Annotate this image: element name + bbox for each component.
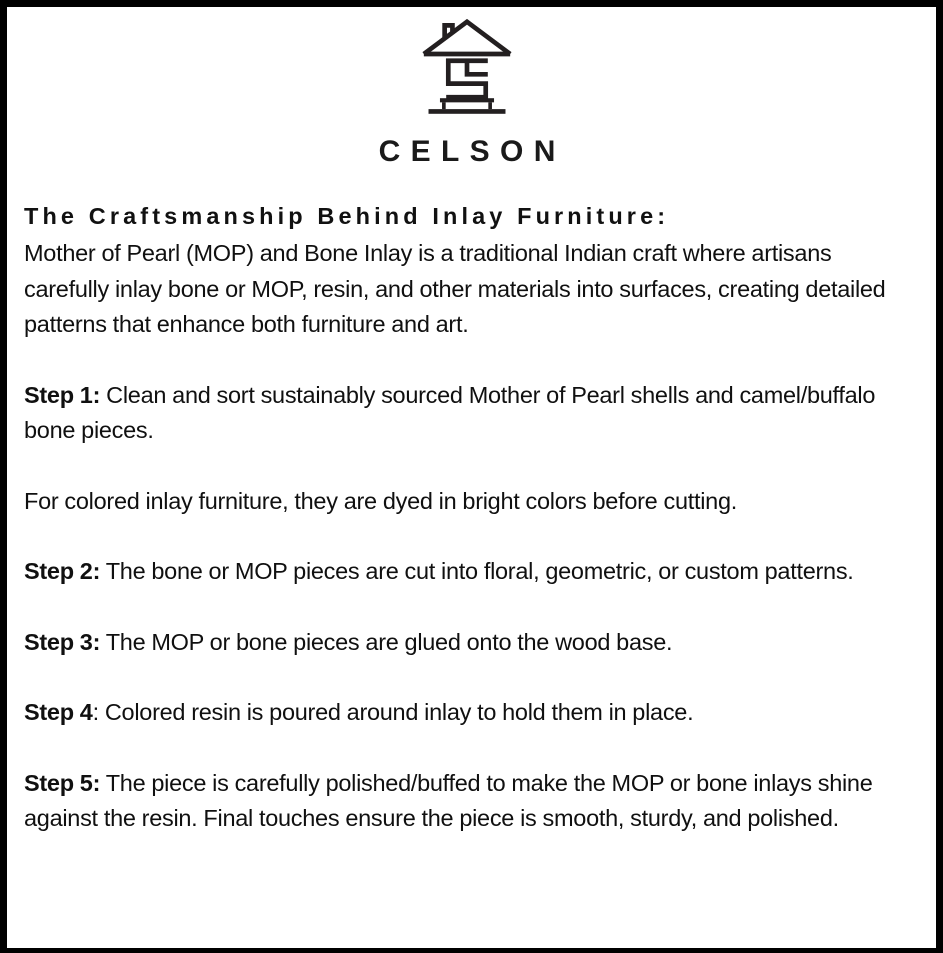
step-5-label: Step 5: [24,770,100,796]
step-5-text: The piece is carefully polished/buffed t… [24,770,873,832]
step-4-label: Step 4 [24,699,93,725]
step-1-text: Clean and sort sustainably sourced Mothe… [24,382,875,444]
step-2-paragraph: Step 2: The bone or MOP pieces are cut i… [24,554,918,590]
step-4-text: Colored resin is poured around inlay to … [99,699,693,725]
step-2-label: Step 2: [24,558,100,584]
step-3-paragraph: Step 3: The MOP or bone pieces are glued… [24,625,918,661]
intro-paragraph: Mother of Pearl (MOP) and Bone Inlay is … [24,236,918,343]
frame-border-right [936,0,943,953]
frame-border-bottom [0,948,943,953]
poster-card: CELSON The Craftsmanship Behind Inlay Fu… [0,0,943,953]
frame-border-top [0,0,943,7]
brand-wordmark: CELSON [16,137,918,167]
step-1-paragraph: Step 1: Clean and sort sustainably sourc… [24,378,918,449]
frame-border-left [0,0,7,953]
step-3-text: The MOP or bone pieces are glued onto th… [100,629,672,655]
note-paragraph: For colored inlay furniture, they are dy… [24,484,918,520]
step-4-paragraph: Step 4: Colored resin is poured around i… [24,695,918,731]
house-monogram-logo-icon [415,15,519,119]
step-5-paragraph: Step 5: The piece is carefully polished/… [24,766,918,837]
step-1-label: Step 1: [24,382,100,408]
brand-block: CELSON [16,13,918,167]
article-body: Mother of Pearl (MOP) and Bone Inlay is … [24,230,918,837]
poster-content: CELSON The Craftsmanship Behind Inlay Fu… [7,7,936,948]
step-2-text: The bone or MOP pieces are cut into flor… [100,558,853,584]
step-3-label: Step 3: [24,629,100,655]
page-title: The Craftsmanship Behind Inlay Furniture… [24,202,918,230]
